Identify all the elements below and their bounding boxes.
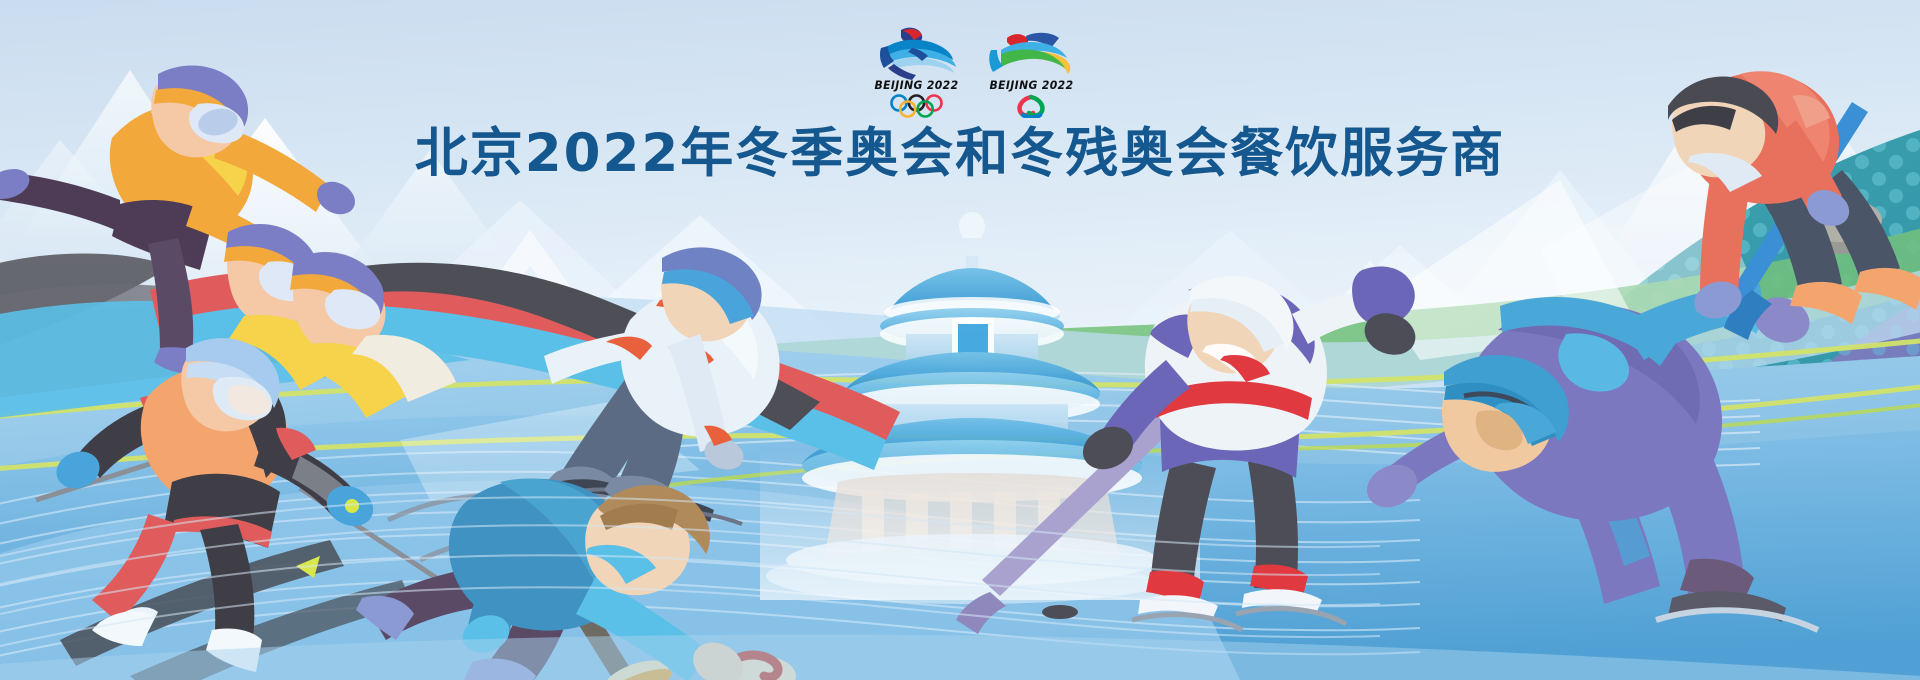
agitos-icon	[983, 94, 1080, 118]
olympic-wordmark: BEIJING 2022	[871, 78, 962, 92]
olympic-emblem: BEIJING 2022	[868, 24, 965, 120]
paralympic-wordmark: BEIJING 2022	[986, 78, 1077, 92]
page-title: 北京2022年冬季奥会和冬残奥会餐饮服务商	[0, 124, 1920, 183]
paralympic-emblem-mark	[983, 24, 1080, 80]
olympic-rings-icon	[868, 94, 965, 118]
paralympic-emblem: BEIJING 2022	[983, 24, 1080, 120]
emblem-group: BEIJING 2022 BEIJIN	[868, 24, 1080, 120]
olympic-emblem-mark	[868, 24, 965, 80]
beijing-2022-banner: BEIJING 2022 BEIJIN	[0, 0, 1920, 680]
